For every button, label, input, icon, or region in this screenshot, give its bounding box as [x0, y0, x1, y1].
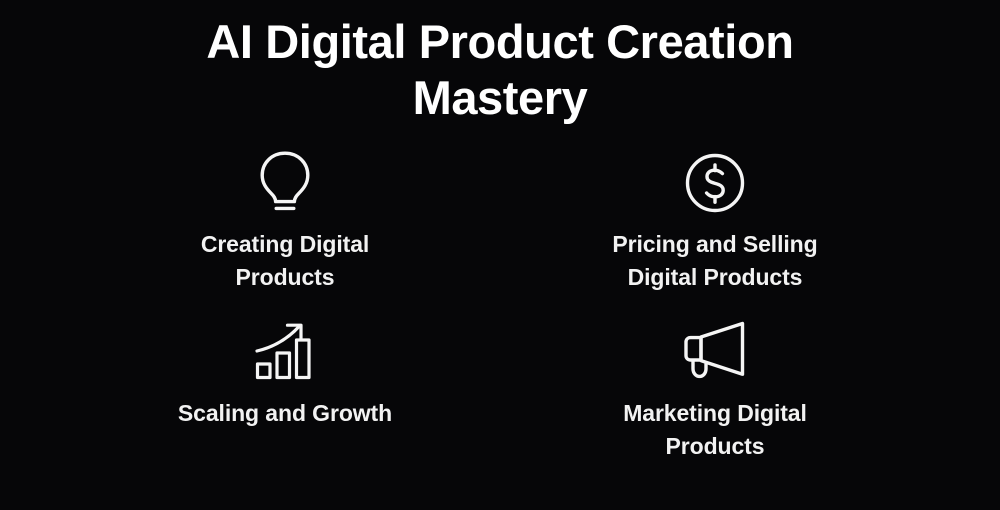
- slide-canvas: AI Digital Product Creation Mastery Crea…: [0, 0, 1000, 510]
- growth-bar-chart-icon: [249, 315, 321, 387]
- lightbulb-icon: [249, 148, 321, 218]
- feature-label: Creating Digital Products: [155, 228, 415, 293]
- feature-grid: Creating Digital Products Pricing and Se…: [70, 148, 930, 463]
- feature-label: Pricing and Selling Digital Products: [585, 228, 845, 293]
- dollar-coin-icon: [679, 148, 751, 218]
- feature-item-scaling-and-growth[interactable]: Scaling and Growth: [70, 315, 500, 462]
- page-title: AI Digital Product Creation Mastery: [120, 0, 880, 126]
- feature-item-pricing-and-selling[interactable]: Pricing and Selling Digital Products: [500, 148, 930, 293]
- megaphone-icon: [679, 315, 751, 387]
- feature-item-marketing-digital-products[interactable]: Marketing Digital Products: [500, 315, 930, 462]
- feature-item-creating-digital-products[interactable]: Creating Digital Products: [70, 148, 500, 293]
- feature-label: Marketing Digital Products: [585, 397, 845, 462]
- feature-label: Scaling and Growth: [155, 397, 415, 430]
